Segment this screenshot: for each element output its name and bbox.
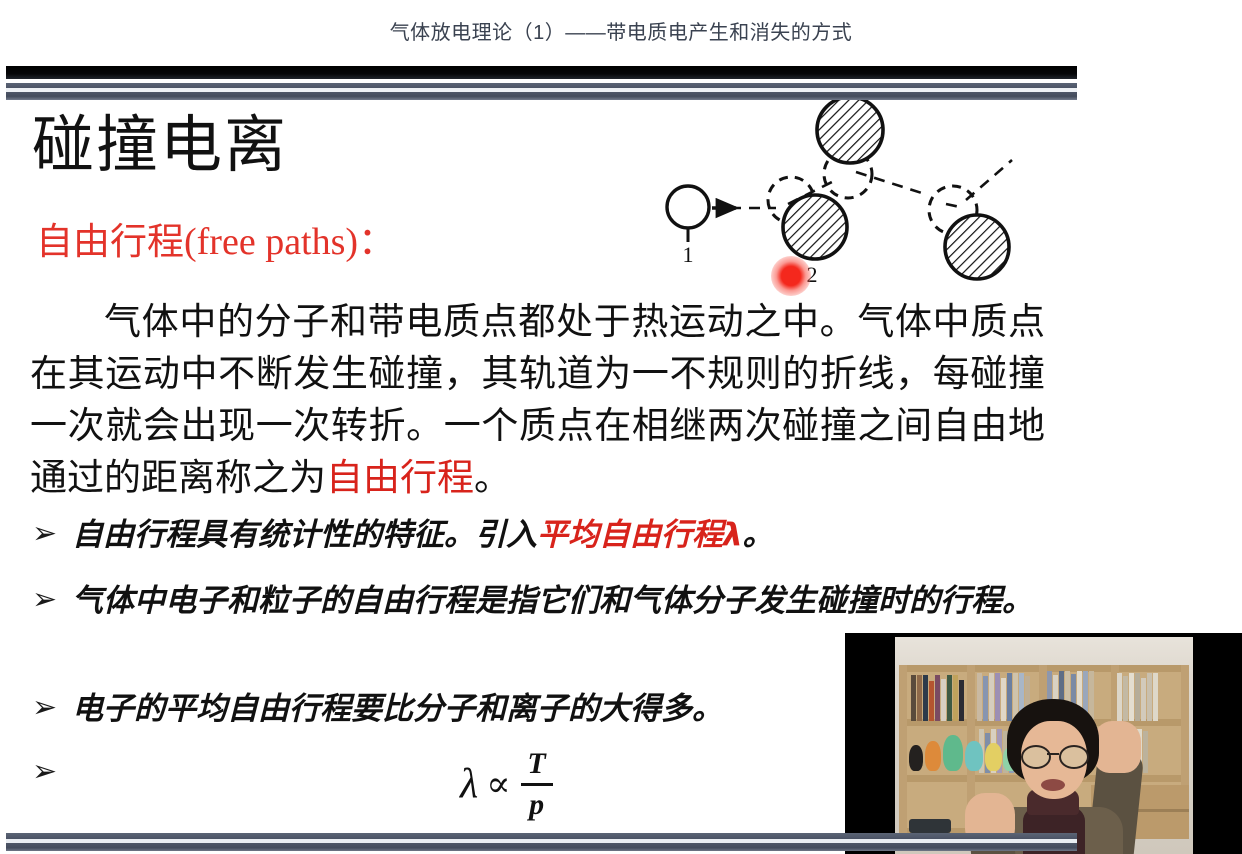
webcam-overlay[interactable]: [845, 633, 1242, 854]
laser-pointer-dot: [771, 256, 811, 296]
list-item-text-after: 。: [743, 517, 774, 553]
trajectory-path: [730, 160, 1012, 208]
bullet-arrow-icon: ➢: [32, 752, 72, 792]
formula-numerator: T: [521, 748, 551, 780]
subsection-heading-cn: 自由行程: [36, 220, 184, 263]
bottom-divider: [6, 833, 1077, 851]
bullet-arrow-icon: ➢: [32, 688, 72, 728]
section-heading: 碰撞电离: [32, 114, 288, 176]
bullet-arrow-icon: ➢: [32, 514, 72, 554]
toy-figure-green: [943, 735, 963, 771]
paragraph-text-part2: 。: [474, 456, 511, 499]
paragraph-highlight: 自由行程: [326, 456, 474, 499]
divider-black-bar: [6, 66, 1077, 79]
list-item: ➢ 自由行程具有统计性的特征。引入平均自由行程λ。: [32, 514, 1012, 557]
list-item-text: 电子的平均自由行程要比分子和离子的大得多。: [72, 688, 723, 731]
toy-figure-dark: [909, 745, 923, 771]
divider-slate-thick: [6, 92, 1077, 100]
list-item-text-before: 气体中电子和粒子的自由行程是指它们和气体分子发生碰撞时的行程。: [72, 583, 1033, 619]
collision-diagram-svg: 1 2: [660, 100, 1040, 300]
list-item-text: 自由行程具有统计性的特征。引入平均自由行程λ。: [72, 514, 774, 557]
glasses-bridge: [1047, 753, 1059, 755]
slide-screen: 气体放电理论（1）——带电质电产生和消失的方式 碰撞电离 自由行程(free p…: [0, 0, 1242, 854]
formula-fraction-bar: [521, 783, 553, 786]
webcam-video-feed: [895, 637, 1193, 854]
glasses-right-lens: [1059, 745, 1089, 769]
glasses-left-lens: [1021, 745, 1051, 769]
diagram-label-1: 1: [683, 242, 694, 267]
subsection-heading: 自由行程(free paths)：: [36, 222, 396, 264]
list-item-highlight: 平均自由行程λ: [537, 517, 743, 553]
bullet-arrow-icon: ➢: [32, 580, 72, 620]
molecule-3-hatched: [817, 100, 883, 163]
desk-object-dark: [909, 819, 951, 833]
books-shelf-1a: [911, 675, 967, 721]
books-shelf-1d: [1117, 673, 1171, 721]
toy-figure-teal: [965, 741, 983, 771]
toy-figure-orange: [925, 741, 941, 771]
subsection-heading-en: (free paths)：: [184, 221, 396, 263]
right-hand-fist: [1093, 721, 1141, 773]
page-title: 气体放电理论（1）——带电质电产生和消失的方式: [0, 16, 1242, 45]
formula-lambda-proportional-t-over-p: λ ∝ T p: [460, 748, 553, 820]
toy-figure-yellow: [985, 743, 1002, 771]
formula-proportional-icon: ∝: [486, 763, 510, 805]
list-item-text-before: 电子的平均自由行程要比分子和离子的大得多。: [72, 691, 723, 727]
collision-trajectory-diagram: 1 2: [660, 100, 1040, 300]
formula-denominator: p: [523, 789, 550, 821]
list-item: ➢ 气体中电子和粒子的自由行程是指它们和气体分子发生碰撞时的行程。: [32, 580, 1042, 623]
person-mouth: [1041, 779, 1065, 791]
formula-fraction: T p: [521, 748, 553, 820]
particle-1-circle: [667, 186, 709, 228]
top-divider: [6, 66, 1077, 100]
paragraph-text-part1: 气体中的分子和带电质点都处于热运动之中。气体中质点在其运动中不断发生碰撞，其轨道…: [30, 300, 1045, 499]
list-item-text: 气体中电子和粒子的自由行程是指它们和气体分子发生碰撞时的行程。: [72, 580, 1033, 623]
list-item-text-before: 自由行程具有统计性的特征。引入: [72, 517, 537, 553]
formula-lambda: λ: [460, 760, 478, 808]
bottom-divider-slate-thick: [6, 843, 1077, 851]
molecule-2-hatched: [783, 195, 847, 259]
molecule-4-hatched: [945, 215, 1009, 279]
body-paragraph: 气体中的分子和带电质点都处于热运动之中。气体中质点在其运动中不断发生碰撞，其轨道…: [30, 296, 1045, 504]
